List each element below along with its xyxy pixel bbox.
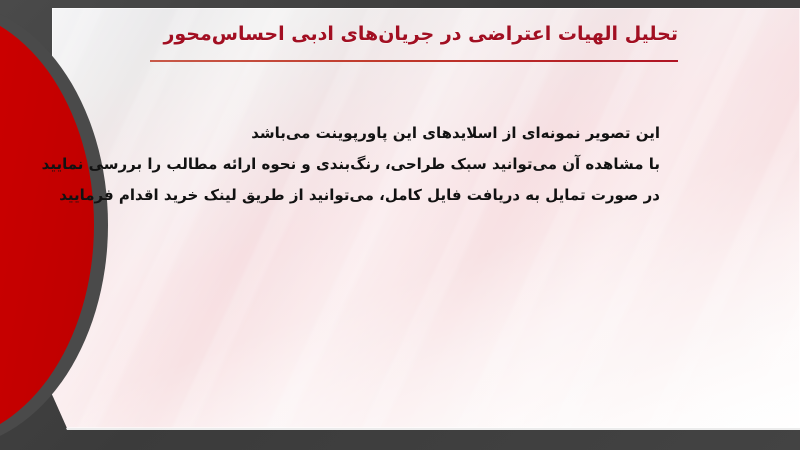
slide-title-block: تحلیل الهیات اعتراضی در جریان‌های ادبی ا… bbox=[118, 22, 678, 62]
slide-title: تحلیل الهیات اعتراضی در جریان‌های ادبی ا… bbox=[118, 22, 678, 48]
body-line-2: با مشاهده آن می‌توانید سبک طراحی، رنگ‌بن… bbox=[130, 149, 660, 180]
presentation-slide: تحلیل الهیات اعتراضی در جریان‌های ادبی ا… bbox=[0, 0, 800, 450]
body-line-1: این تصویر نمونه‌ای از اسلایدهای این پاور… bbox=[130, 118, 660, 149]
title-divider-rule bbox=[150, 60, 678, 62]
slide-body-text: این تصویر نمونه‌ای از اسلایدهای این پاور… bbox=[130, 118, 660, 210]
slide-content-panel bbox=[52, 8, 800, 428]
body-line-3: در صورت تمایل به دریافت فایل کامل، می‌تو… bbox=[130, 180, 660, 211]
